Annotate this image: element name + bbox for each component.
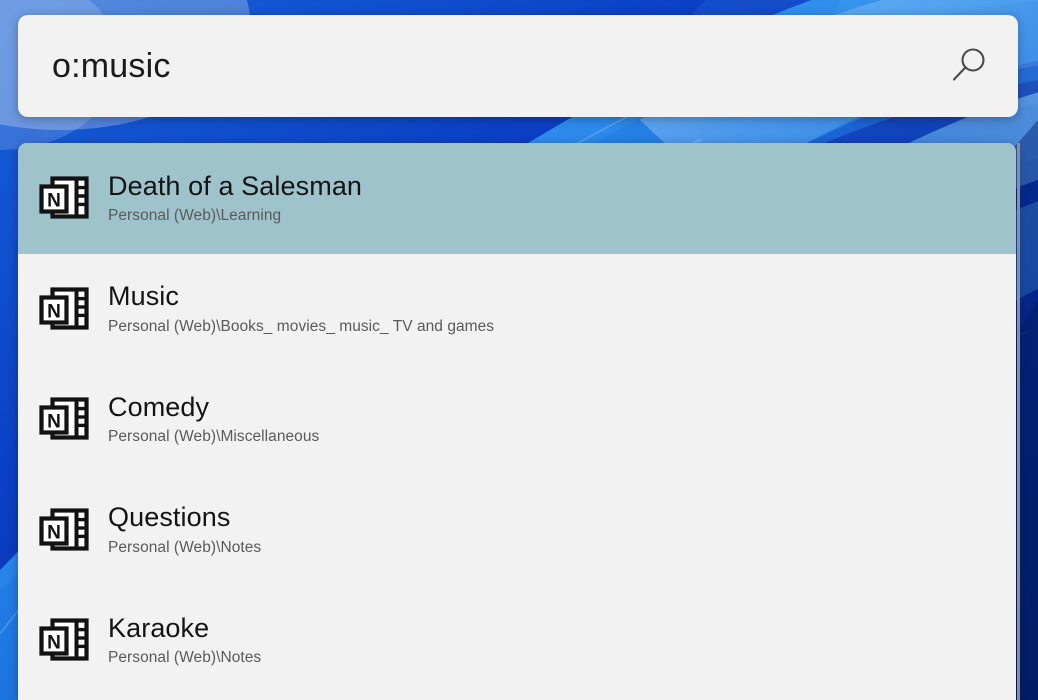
result-title: Questions: [108, 502, 261, 532]
result-subtitle: Personal (Web)\Books_ movies_ music_ TV …: [108, 318, 494, 337]
result-title: Karaoke: [108, 613, 261, 643]
onenote-icon: N: [36, 396, 94, 442]
onenote-icon: N: [36, 617, 94, 663]
result-text: Comedy Personal (Web)\Miscellaneous: [108, 392, 319, 447]
result-row-3[interactable]: N Questions Personal (Web)\Notes: [18, 475, 1016, 586]
svg-text:N: N: [47, 412, 61, 433]
svg-text:N: N: [47, 522, 61, 543]
result-subtitle: Personal (Web)\Notes: [108, 649, 261, 668]
search-input[interactable]: o:music: [52, 15, 171, 117]
result-row-4[interactable]: N Karaoke Personal (Web)\Notes: [18, 585, 1016, 696]
result-title: Music: [108, 281, 494, 311]
result-subtitle: Personal (Web)\Notes: [108, 539, 261, 558]
onenote-icon: N: [36, 175, 94, 221]
result-text: Death of a Salesman Personal (Web)\Learn…: [108, 171, 362, 226]
result-subtitle: Personal (Web)\Learning: [108, 207, 362, 226]
svg-text:N: N: [47, 633, 61, 654]
result-title: Death of a Salesman: [108, 171, 362, 201]
search-icon[interactable]: [946, 15, 990, 117]
onenote-icon: N: [36, 286, 94, 332]
result-title: Comedy: [108, 392, 319, 422]
result-row-0[interactable]: N Death of a Salesman Personal (Web)\Lea…: [18, 143, 1016, 254]
result-text: Questions Personal (Web)\Notes: [108, 502, 261, 557]
results-list: N Death of a Salesman Personal (Web)\Lea…: [18, 143, 1016, 696]
onenote-icon: N: [36, 507, 94, 553]
result-text: Karaoke Personal (Web)\Notes: [108, 613, 261, 668]
svg-text:N: N: [47, 191, 61, 212]
results-scrollbar[interactable]: [1017, 143, 1020, 700]
result-row-1[interactable]: N Music Personal (Web)\Books_ movies_ mu…: [18, 254, 1016, 365]
result-text: Music Personal (Web)\Books_ movies_ musi…: [108, 281, 494, 336]
result-row-2[interactable]: N Comedy Personal (Web)\Miscellaneous: [18, 364, 1016, 475]
svg-text:N: N: [47, 301, 61, 322]
search-box[interactable]: o:music: [18, 15, 1018, 117]
result-subtitle: Personal (Web)\Miscellaneous: [108, 428, 319, 447]
search-results-panel: N Death of a Salesman Personal (Web)\Lea…: [18, 143, 1016, 700]
